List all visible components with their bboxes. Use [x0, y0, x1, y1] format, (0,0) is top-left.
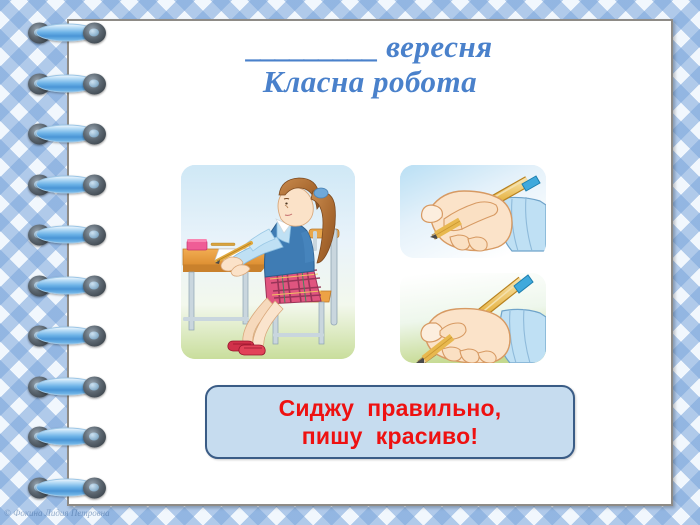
spiral-ring — [28, 124, 106, 145]
spiral-ring — [28, 477, 106, 498]
title-line-classwork: Класна робота — [80, 65, 660, 100]
date-blank: _________ — [247, 29, 378, 64]
spiral-ring — [28, 275, 106, 296]
spiral-ring-cap-right — [83, 427, 106, 448]
spiral-ring — [28, 427, 106, 448]
image-hand-holding-pencil-side-view — [400, 165, 546, 258]
spiral-ring — [28, 376, 106, 397]
spiral-ring-cap-right — [83, 376, 106, 397]
spiral-ring — [28, 174, 106, 195]
spiral-ring — [28, 225, 106, 246]
watermark-credit: © Фокина Лидия Петровна — [4, 508, 110, 518]
slide-canvas: _________ вересня Класна робота — [0, 0, 700, 525]
caption-line-2: пишу красиво! — [302, 422, 478, 450]
spiral-ring-cap-right — [83, 174, 106, 195]
caption-line-1: Сиджу правильно, — [279, 394, 502, 422]
spiral-ring-cap-right — [83, 225, 106, 246]
caption-box: Сиджу правильно, пишу красиво! — [205, 385, 575, 459]
image-hand-holding-pencil-writing — [400, 273, 546, 363]
spiral-ring-cap-right — [83, 326, 106, 347]
month-label: вересня — [386, 29, 493, 64]
page-title: _________ вересня Класна робота — [80, 30, 660, 99]
image-girl-sitting-at-desk-writing — [181, 165, 355, 359]
spiral-ring-cap-right — [83, 275, 106, 296]
title-line-date: _________ вересня — [80, 30, 660, 65]
spiral-ring-cap-right — [83, 124, 106, 145]
spiral-ring-cap-right — [83, 477, 106, 498]
spiral-ring — [28, 326, 106, 347]
